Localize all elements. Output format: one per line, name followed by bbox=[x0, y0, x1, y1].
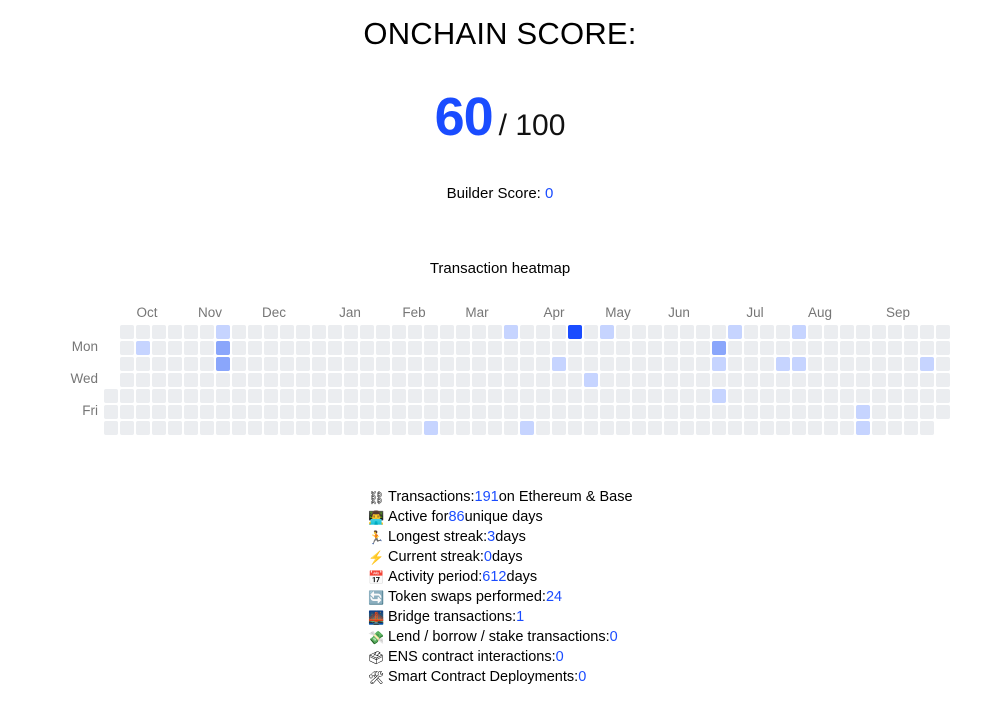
heatmap-cell[interactable] bbox=[392, 373, 406, 387]
heatmap-cell[interactable] bbox=[200, 373, 214, 387]
heatmap-cell[interactable] bbox=[600, 325, 614, 339]
heatmap-cell[interactable] bbox=[200, 421, 214, 435]
heatmap-cell[interactable] bbox=[408, 373, 422, 387]
heatmap-cell[interactable] bbox=[824, 405, 838, 419]
heatmap-cell[interactable] bbox=[184, 421, 198, 435]
heatmap-cell[interactable] bbox=[792, 357, 806, 371]
heatmap-cell[interactable] bbox=[648, 405, 662, 419]
heatmap-cell[interactable] bbox=[248, 341, 262, 355]
heatmap-cell[interactable] bbox=[744, 325, 758, 339]
heatmap-cell[interactable] bbox=[168, 389, 182, 403]
heatmap-cell[interactable] bbox=[680, 373, 694, 387]
heatmap-cell[interactable] bbox=[232, 325, 246, 339]
heatmap-cell[interactable] bbox=[776, 357, 790, 371]
heatmap-cell[interactable] bbox=[232, 405, 246, 419]
heatmap-cell[interactable] bbox=[616, 357, 630, 371]
heatmap-cell[interactable] bbox=[408, 325, 422, 339]
heatmap-cell[interactable] bbox=[440, 421, 454, 435]
heatmap-cell[interactable] bbox=[440, 357, 454, 371]
heatmap-cell[interactable] bbox=[744, 421, 758, 435]
heatmap-cell[interactable] bbox=[856, 341, 870, 355]
heatmap-cell[interactable] bbox=[376, 357, 390, 371]
heatmap-cell[interactable] bbox=[488, 341, 502, 355]
heatmap-cell[interactable] bbox=[120, 373, 134, 387]
heatmap-cell[interactable] bbox=[248, 421, 262, 435]
heatmap-cell[interactable] bbox=[280, 405, 294, 419]
heatmap-cell[interactable] bbox=[936, 325, 950, 339]
heatmap-cell[interactable] bbox=[616, 405, 630, 419]
heatmap-cell[interactable] bbox=[392, 325, 406, 339]
heatmap-cell[interactable] bbox=[760, 325, 774, 339]
heatmap-cell[interactable] bbox=[920, 357, 934, 371]
heatmap-cell[interactable] bbox=[552, 341, 566, 355]
heatmap-cell[interactable] bbox=[888, 357, 902, 371]
heatmap-cell[interactable] bbox=[920, 325, 934, 339]
heatmap-cell[interactable] bbox=[808, 405, 822, 419]
heatmap-cell[interactable] bbox=[440, 405, 454, 419]
heatmap-cell[interactable] bbox=[344, 325, 358, 339]
heatmap-cell[interactable] bbox=[536, 389, 550, 403]
heatmap-cell[interactable] bbox=[760, 357, 774, 371]
heatmap-cell[interactable] bbox=[904, 405, 918, 419]
heatmap-cell[interactable] bbox=[728, 357, 742, 371]
heatmap-cell[interactable] bbox=[408, 341, 422, 355]
heatmap-cell[interactable] bbox=[552, 421, 566, 435]
heatmap-cell[interactable] bbox=[584, 341, 598, 355]
heatmap-cell[interactable] bbox=[200, 405, 214, 419]
heatmap-cell[interactable] bbox=[312, 341, 326, 355]
heatmap-cell[interactable] bbox=[840, 325, 854, 339]
heatmap-cell[interactable] bbox=[440, 325, 454, 339]
heatmap-cell[interactable] bbox=[312, 389, 326, 403]
heatmap-cell[interactable] bbox=[488, 325, 502, 339]
heatmap-cell[interactable] bbox=[536, 373, 550, 387]
heatmap-cell[interactable] bbox=[360, 421, 374, 435]
heatmap-cell[interactable] bbox=[216, 325, 230, 339]
heatmap-cell[interactable] bbox=[248, 325, 262, 339]
heatmap-cell[interactable] bbox=[632, 389, 646, 403]
heatmap-cell[interactable] bbox=[424, 325, 438, 339]
heatmap-cell[interactable] bbox=[600, 405, 614, 419]
heatmap-cell[interactable] bbox=[600, 373, 614, 387]
heatmap-cell[interactable] bbox=[712, 341, 726, 355]
heatmap-cell[interactable] bbox=[552, 405, 566, 419]
heatmap-cell[interactable] bbox=[136, 421, 150, 435]
heatmap-cell[interactable] bbox=[600, 341, 614, 355]
heatmap-cell[interactable] bbox=[824, 389, 838, 403]
heatmap-cell[interactable] bbox=[136, 341, 150, 355]
heatmap-cell[interactable] bbox=[408, 357, 422, 371]
heatmap-cell[interactable] bbox=[424, 405, 438, 419]
heatmap-cell[interactable] bbox=[648, 341, 662, 355]
heatmap-cell[interactable] bbox=[568, 341, 582, 355]
heatmap-cell[interactable] bbox=[472, 373, 486, 387]
heatmap-cell[interactable] bbox=[296, 325, 310, 339]
heatmap-cell[interactable] bbox=[632, 341, 646, 355]
heatmap-cell[interactable] bbox=[200, 341, 214, 355]
heatmap-cell[interactable] bbox=[616, 325, 630, 339]
heatmap-cell[interactable] bbox=[360, 389, 374, 403]
heatmap-cell[interactable] bbox=[344, 357, 358, 371]
heatmap-cell[interactable] bbox=[728, 389, 742, 403]
heatmap-cell[interactable] bbox=[280, 325, 294, 339]
heatmap-cell[interactable] bbox=[632, 373, 646, 387]
heatmap-cell[interactable] bbox=[184, 357, 198, 371]
heatmap-cell[interactable] bbox=[712, 389, 726, 403]
heatmap-cell[interactable] bbox=[504, 389, 518, 403]
heatmap-cell[interactable] bbox=[792, 341, 806, 355]
heatmap-cell[interactable] bbox=[648, 421, 662, 435]
heatmap-cell[interactable] bbox=[760, 389, 774, 403]
heatmap-cell[interactable] bbox=[648, 389, 662, 403]
heatmap-cell[interactable] bbox=[696, 373, 710, 387]
heatmap-cell[interactable] bbox=[632, 405, 646, 419]
heatmap-cell[interactable] bbox=[936, 357, 950, 371]
heatmap-cell[interactable] bbox=[456, 405, 470, 419]
heatmap-cell[interactable] bbox=[824, 421, 838, 435]
heatmap-cell[interactable] bbox=[488, 389, 502, 403]
heatmap-cell[interactable] bbox=[936, 341, 950, 355]
heatmap-cell[interactable] bbox=[888, 325, 902, 339]
heatmap-cell[interactable] bbox=[280, 357, 294, 371]
heatmap-cell[interactable] bbox=[232, 389, 246, 403]
heatmap-cell[interactable] bbox=[728, 421, 742, 435]
heatmap-cell[interactable] bbox=[696, 421, 710, 435]
heatmap-cell[interactable] bbox=[472, 341, 486, 355]
heatmap-cell[interactable] bbox=[264, 405, 278, 419]
heatmap-cell[interactable] bbox=[552, 325, 566, 339]
heatmap-cell[interactable] bbox=[632, 325, 646, 339]
heatmap-cell[interactable] bbox=[872, 421, 886, 435]
heatmap-cell[interactable] bbox=[840, 357, 854, 371]
heatmap-cell[interactable] bbox=[696, 389, 710, 403]
heatmap-cell[interactable] bbox=[312, 421, 326, 435]
heatmap-cell[interactable] bbox=[360, 341, 374, 355]
heatmap-cell[interactable] bbox=[840, 405, 854, 419]
heatmap-cell[interactable] bbox=[568, 389, 582, 403]
heatmap-cell[interactable] bbox=[520, 325, 534, 339]
heatmap-cell[interactable] bbox=[248, 373, 262, 387]
heatmap-cell[interactable] bbox=[232, 373, 246, 387]
heatmap-cell[interactable] bbox=[152, 405, 166, 419]
heatmap-cell[interactable] bbox=[456, 341, 470, 355]
heatmap-cell[interactable] bbox=[520, 373, 534, 387]
heatmap-cell[interactable] bbox=[600, 389, 614, 403]
heatmap-cell[interactable] bbox=[728, 373, 742, 387]
heatmap-cell[interactable] bbox=[856, 325, 870, 339]
heatmap-cell[interactable] bbox=[696, 405, 710, 419]
heatmap-cell[interactable] bbox=[744, 357, 758, 371]
heatmap-cell[interactable] bbox=[888, 341, 902, 355]
heatmap-cell[interactable] bbox=[936, 389, 950, 403]
heatmap-cell[interactable] bbox=[616, 373, 630, 387]
heatmap-cell[interactable] bbox=[168, 373, 182, 387]
heatmap-cell[interactable] bbox=[232, 421, 246, 435]
heatmap-cell[interactable] bbox=[712, 405, 726, 419]
heatmap-cell[interactable] bbox=[392, 389, 406, 403]
heatmap-cell[interactable] bbox=[120, 421, 134, 435]
heatmap-cell[interactable] bbox=[904, 389, 918, 403]
heatmap-cell[interactable] bbox=[520, 405, 534, 419]
heatmap-cell[interactable] bbox=[712, 373, 726, 387]
heatmap-cell[interactable] bbox=[536, 405, 550, 419]
heatmap-cell[interactable] bbox=[776, 421, 790, 435]
heatmap-cell[interactable] bbox=[360, 405, 374, 419]
heatmap-cell[interactable] bbox=[648, 325, 662, 339]
heatmap-cell[interactable] bbox=[360, 357, 374, 371]
heatmap-cell[interactable] bbox=[168, 357, 182, 371]
heatmap-cell[interactable] bbox=[760, 373, 774, 387]
heatmap-cell[interactable] bbox=[312, 357, 326, 371]
heatmap-cell[interactable] bbox=[664, 325, 678, 339]
heatmap-cell[interactable] bbox=[296, 341, 310, 355]
heatmap-cell[interactable] bbox=[280, 421, 294, 435]
heatmap-cell[interactable] bbox=[104, 421, 118, 435]
heatmap-cell[interactable] bbox=[712, 421, 726, 435]
heatmap-cell[interactable] bbox=[808, 421, 822, 435]
heatmap-cell[interactable] bbox=[376, 389, 390, 403]
heatmap-cell[interactable] bbox=[728, 325, 742, 339]
heatmap-cell[interactable] bbox=[680, 341, 694, 355]
heatmap-cell[interactable] bbox=[744, 373, 758, 387]
heatmap-cell[interactable] bbox=[232, 341, 246, 355]
heatmap-cell[interactable] bbox=[424, 373, 438, 387]
heatmap-cell[interactable] bbox=[760, 405, 774, 419]
heatmap-cell[interactable] bbox=[296, 357, 310, 371]
heatmap-cell[interactable] bbox=[856, 357, 870, 371]
heatmap-cell[interactable] bbox=[344, 405, 358, 419]
heatmap-cell[interactable] bbox=[744, 405, 758, 419]
heatmap-cell[interactable] bbox=[728, 405, 742, 419]
heatmap-cell[interactable] bbox=[312, 405, 326, 419]
heatmap-cell[interactable] bbox=[328, 373, 342, 387]
heatmap-cell[interactable] bbox=[104, 405, 118, 419]
heatmap-cell[interactable] bbox=[664, 373, 678, 387]
heatmap-cell[interactable] bbox=[296, 405, 310, 419]
heatmap-cell[interactable] bbox=[712, 357, 726, 371]
heatmap-cell[interactable] bbox=[152, 341, 166, 355]
heatmap-cell[interactable] bbox=[568, 373, 582, 387]
heatmap-cell[interactable] bbox=[840, 389, 854, 403]
heatmap-cell[interactable] bbox=[408, 389, 422, 403]
heatmap-cell[interactable] bbox=[824, 373, 838, 387]
heatmap-cell[interactable] bbox=[136, 357, 150, 371]
heatmap-cell[interactable] bbox=[120, 341, 134, 355]
heatmap-cell[interactable] bbox=[344, 421, 358, 435]
heatmap-cell[interactable] bbox=[936, 373, 950, 387]
heatmap-cell[interactable] bbox=[680, 389, 694, 403]
heatmap-cell[interactable] bbox=[872, 373, 886, 387]
heatmap-cell[interactable] bbox=[920, 421, 934, 435]
heatmap-cell[interactable] bbox=[488, 373, 502, 387]
heatmap-cell[interactable] bbox=[472, 421, 486, 435]
heatmap-cell[interactable] bbox=[792, 421, 806, 435]
heatmap-cell[interactable] bbox=[184, 373, 198, 387]
heatmap-cell[interactable] bbox=[584, 405, 598, 419]
heatmap-cell[interactable] bbox=[168, 325, 182, 339]
heatmap-cell[interactable] bbox=[936, 405, 950, 419]
heatmap-cell[interactable] bbox=[536, 357, 550, 371]
heatmap-cell[interactable] bbox=[424, 421, 438, 435]
heatmap-cell[interactable] bbox=[632, 357, 646, 371]
heatmap-cell[interactable] bbox=[440, 341, 454, 355]
heatmap-cell[interactable] bbox=[808, 389, 822, 403]
heatmap-cell[interactable] bbox=[776, 405, 790, 419]
heatmap-cell[interactable] bbox=[840, 373, 854, 387]
heatmap-cell[interactable] bbox=[488, 405, 502, 419]
heatmap-cell[interactable] bbox=[744, 341, 758, 355]
heatmap-cell[interactable] bbox=[712, 325, 726, 339]
heatmap-cell[interactable] bbox=[776, 341, 790, 355]
heatmap-cell[interactable] bbox=[808, 341, 822, 355]
heatmap-cell[interactable] bbox=[584, 325, 598, 339]
heatmap-cell[interactable] bbox=[472, 357, 486, 371]
heatmap-cell[interactable] bbox=[376, 325, 390, 339]
heatmap-cell[interactable] bbox=[392, 421, 406, 435]
heatmap-cell[interactable] bbox=[888, 405, 902, 419]
heatmap-cell[interactable] bbox=[504, 405, 518, 419]
heatmap-cell[interactable] bbox=[680, 357, 694, 371]
heatmap-cell[interactable] bbox=[456, 357, 470, 371]
heatmap-cell[interactable] bbox=[648, 373, 662, 387]
heatmap-cell[interactable] bbox=[200, 357, 214, 371]
heatmap-cell[interactable] bbox=[408, 421, 422, 435]
heatmap-cell[interactable] bbox=[248, 405, 262, 419]
heatmap-cell[interactable] bbox=[744, 389, 758, 403]
heatmap-cell[interactable] bbox=[248, 389, 262, 403]
heatmap-cell[interactable] bbox=[168, 405, 182, 419]
heatmap-cell[interactable] bbox=[104, 389, 118, 403]
heatmap-cell[interactable] bbox=[504, 325, 518, 339]
heatmap-cell[interactable] bbox=[888, 389, 902, 403]
heatmap-cell[interactable] bbox=[888, 373, 902, 387]
heatmap-cell[interactable] bbox=[568, 421, 582, 435]
heatmap-cell[interactable] bbox=[904, 341, 918, 355]
heatmap-cell[interactable] bbox=[808, 373, 822, 387]
heatmap-cell[interactable] bbox=[264, 357, 278, 371]
heatmap-cell[interactable] bbox=[136, 389, 150, 403]
heatmap-cell[interactable] bbox=[584, 389, 598, 403]
heatmap-cell[interactable] bbox=[920, 405, 934, 419]
heatmap-cell[interactable] bbox=[296, 421, 310, 435]
heatmap-cell[interactable] bbox=[664, 421, 678, 435]
heatmap-cell[interactable] bbox=[456, 325, 470, 339]
heatmap-cell[interactable] bbox=[504, 421, 518, 435]
heatmap-cell[interactable] bbox=[584, 357, 598, 371]
heatmap-cell[interactable] bbox=[472, 325, 486, 339]
heatmap-cell[interactable] bbox=[184, 405, 198, 419]
heatmap-cell[interactable] bbox=[872, 341, 886, 355]
heatmap-cell[interactable] bbox=[760, 341, 774, 355]
heatmap-cell[interactable] bbox=[328, 357, 342, 371]
heatmap-cell[interactable] bbox=[536, 421, 550, 435]
heatmap-cell[interactable] bbox=[616, 389, 630, 403]
heatmap-cell[interactable] bbox=[264, 325, 278, 339]
heatmap-cell[interactable] bbox=[424, 341, 438, 355]
heatmap-cell[interactable] bbox=[120, 325, 134, 339]
heatmap-cell[interactable] bbox=[200, 389, 214, 403]
heatmap-cell[interactable] bbox=[904, 357, 918, 371]
heatmap-cell[interactable] bbox=[536, 341, 550, 355]
heatmap-cell[interactable] bbox=[920, 389, 934, 403]
heatmap-cell[interactable] bbox=[776, 389, 790, 403]
heatmap-cell[interactable] bbox=[920, 341, 934, 355]
heatmap-cell[interactable] bbox=[264, 341, 278, 355]
heatmap-cell[interactable] bbox=[904, 373, 918, 387]
heatmap-cell[interactable] bbox=[392, 405, 406, 419]
heatmap-cell[interactable] bbox=[152, 421, 166, 435]
heatmap-cell[interactable] bbox=[472, 389, 486, 403]
heatmap-cell[interactable] bbox=[808, 357, 822, 371]
heatmap-cell[interactable] bbox=[792, 325, 806, 339]
heatmap-cell[interactable] bbox=[136, 405, 150, 419]
heatmap-cell[interactable] bbox=[840, 421, 854, 435]
heatmap-cell[interactable] bbox=[520, 357, 534, 371]
heatmap-cell[interactable] bbox=[840, 341, 854, 355]
heatmap-cell[interactable] bbox=[632, 421, 646, 435]
heatmap-cell[interactable] bbox=[888, 421, 902, 435]
heatmap-cell[interactable] bbox=[120, 357, 134, 371]
heatmap-cell[interactable] bbox=[584, 421, 598, 435]
heatmap-cell[interactable] bbox=[792, 405, 806, 419]
heatmap-cell[interactable] bbox=[664, 357, 678, 371]
heatmap-cell[interactable] bbox=[152, 325, 166, 339]
heatmap-cell[interactable] bbox=[824, 325, 838, 339]
heatmap-cell[interactable] bbox=[120, 405, 134, 419]
heatmap-cell[interactable] bbox=[376, 405, 390, 419]
heatmap-cell[interactable] bbox=[824, 341, 838, 355]
heatmap-cell[interactable] bbox=[376, 373, 390, 387]
heatmap-cell[interactable] bbox=[920, 373, 934, 387]
heatmap-cell[interactable] bbox=[232, 357, 246, 371]
heatmap-cell[interactable] bbox=[344, 373, 358, 387]
heatmap-cell[interactable] bbox=[312, 373, 326, 387]
heatmap-cell[interactable] bbox=[664, 389, 678, 403]
heatmap-cell[interactable] bbox=[856, 421, 870, 435]
heatmap-cell[interactable] bbox=[616, 341, 630, 355]
heatmap-cell[interactable] bbox=[152, 389, 166, 403]
heatmap-cell[interactable] bbox=[344, 389, 358, 403]
heatmap-cell[interactable] bbox=[456, 421, 470, 435]
heatmap-cell[interactable] bbox=[872, 325, 886, 339]
heatmap-cell[interactable] bbox=[776, 325, 790, 339]
heatmap-cell[interactable] bbox=[184, 325, 198, 339]
heatmap-cell[interactable] bbox=[552, 389, 566, 403]
heatmap-cell[interactable] bbox=[696, 325, 710, 339]
heatmap-cell[interactable] bbox=[328, 389, 342, 403]
heatmap-cell[interactable] bbox=[504, 357, 518, 371]
heatmap-cell[interactable] bbox=[680, 421, 694, 435]
heatmap-cell[interactable] bbox=[360, 373, 374, 387]
heatmap-cell[interactable] bbox=[552, 373, 566, 387]
heatmap-cell[interactable] bbox=[792, 373, 806, 387]
heatmap-cell[interactable] bbox=[568, 357, 582, 371]
heatmap-cell[interactable] bbox=[872, 405, 886, 419]
heatmap-cell[interactable] bbox=[424, 357, 438, 371]
heatmap-cell[interactable] bbox=[216, 421, 230, 435]
heatmap-cell[interactable] bbox=[328, 341, 342, 355]
heatmap-cell[interactable] bbox=[904, 421, 918, 435]
heatmap-cell[interactable] bbox=[280, 389, 294, 403]
heatmap-cell[interactable] bbox=[728, 341, 742, 355]
heatmap-cell[interactable] bbox=[456, 373, 470, 387]
heatmap-cell[interactable] bbox=[360, 325, 374, 339]
heatmap-cell[interactable] bbox=[488, 357, 502, 371]
heatmap-cell[interactable] bbox=[504, 341, 518, 355]
heatmap-cell[interactable] bbox=[392, 341, 406, 355]
heatmap-cell[interactable] bbox=[344, 341, 358, 355]
heatmap-cell[interactable] bbox=[856, 405, 870, 419]
